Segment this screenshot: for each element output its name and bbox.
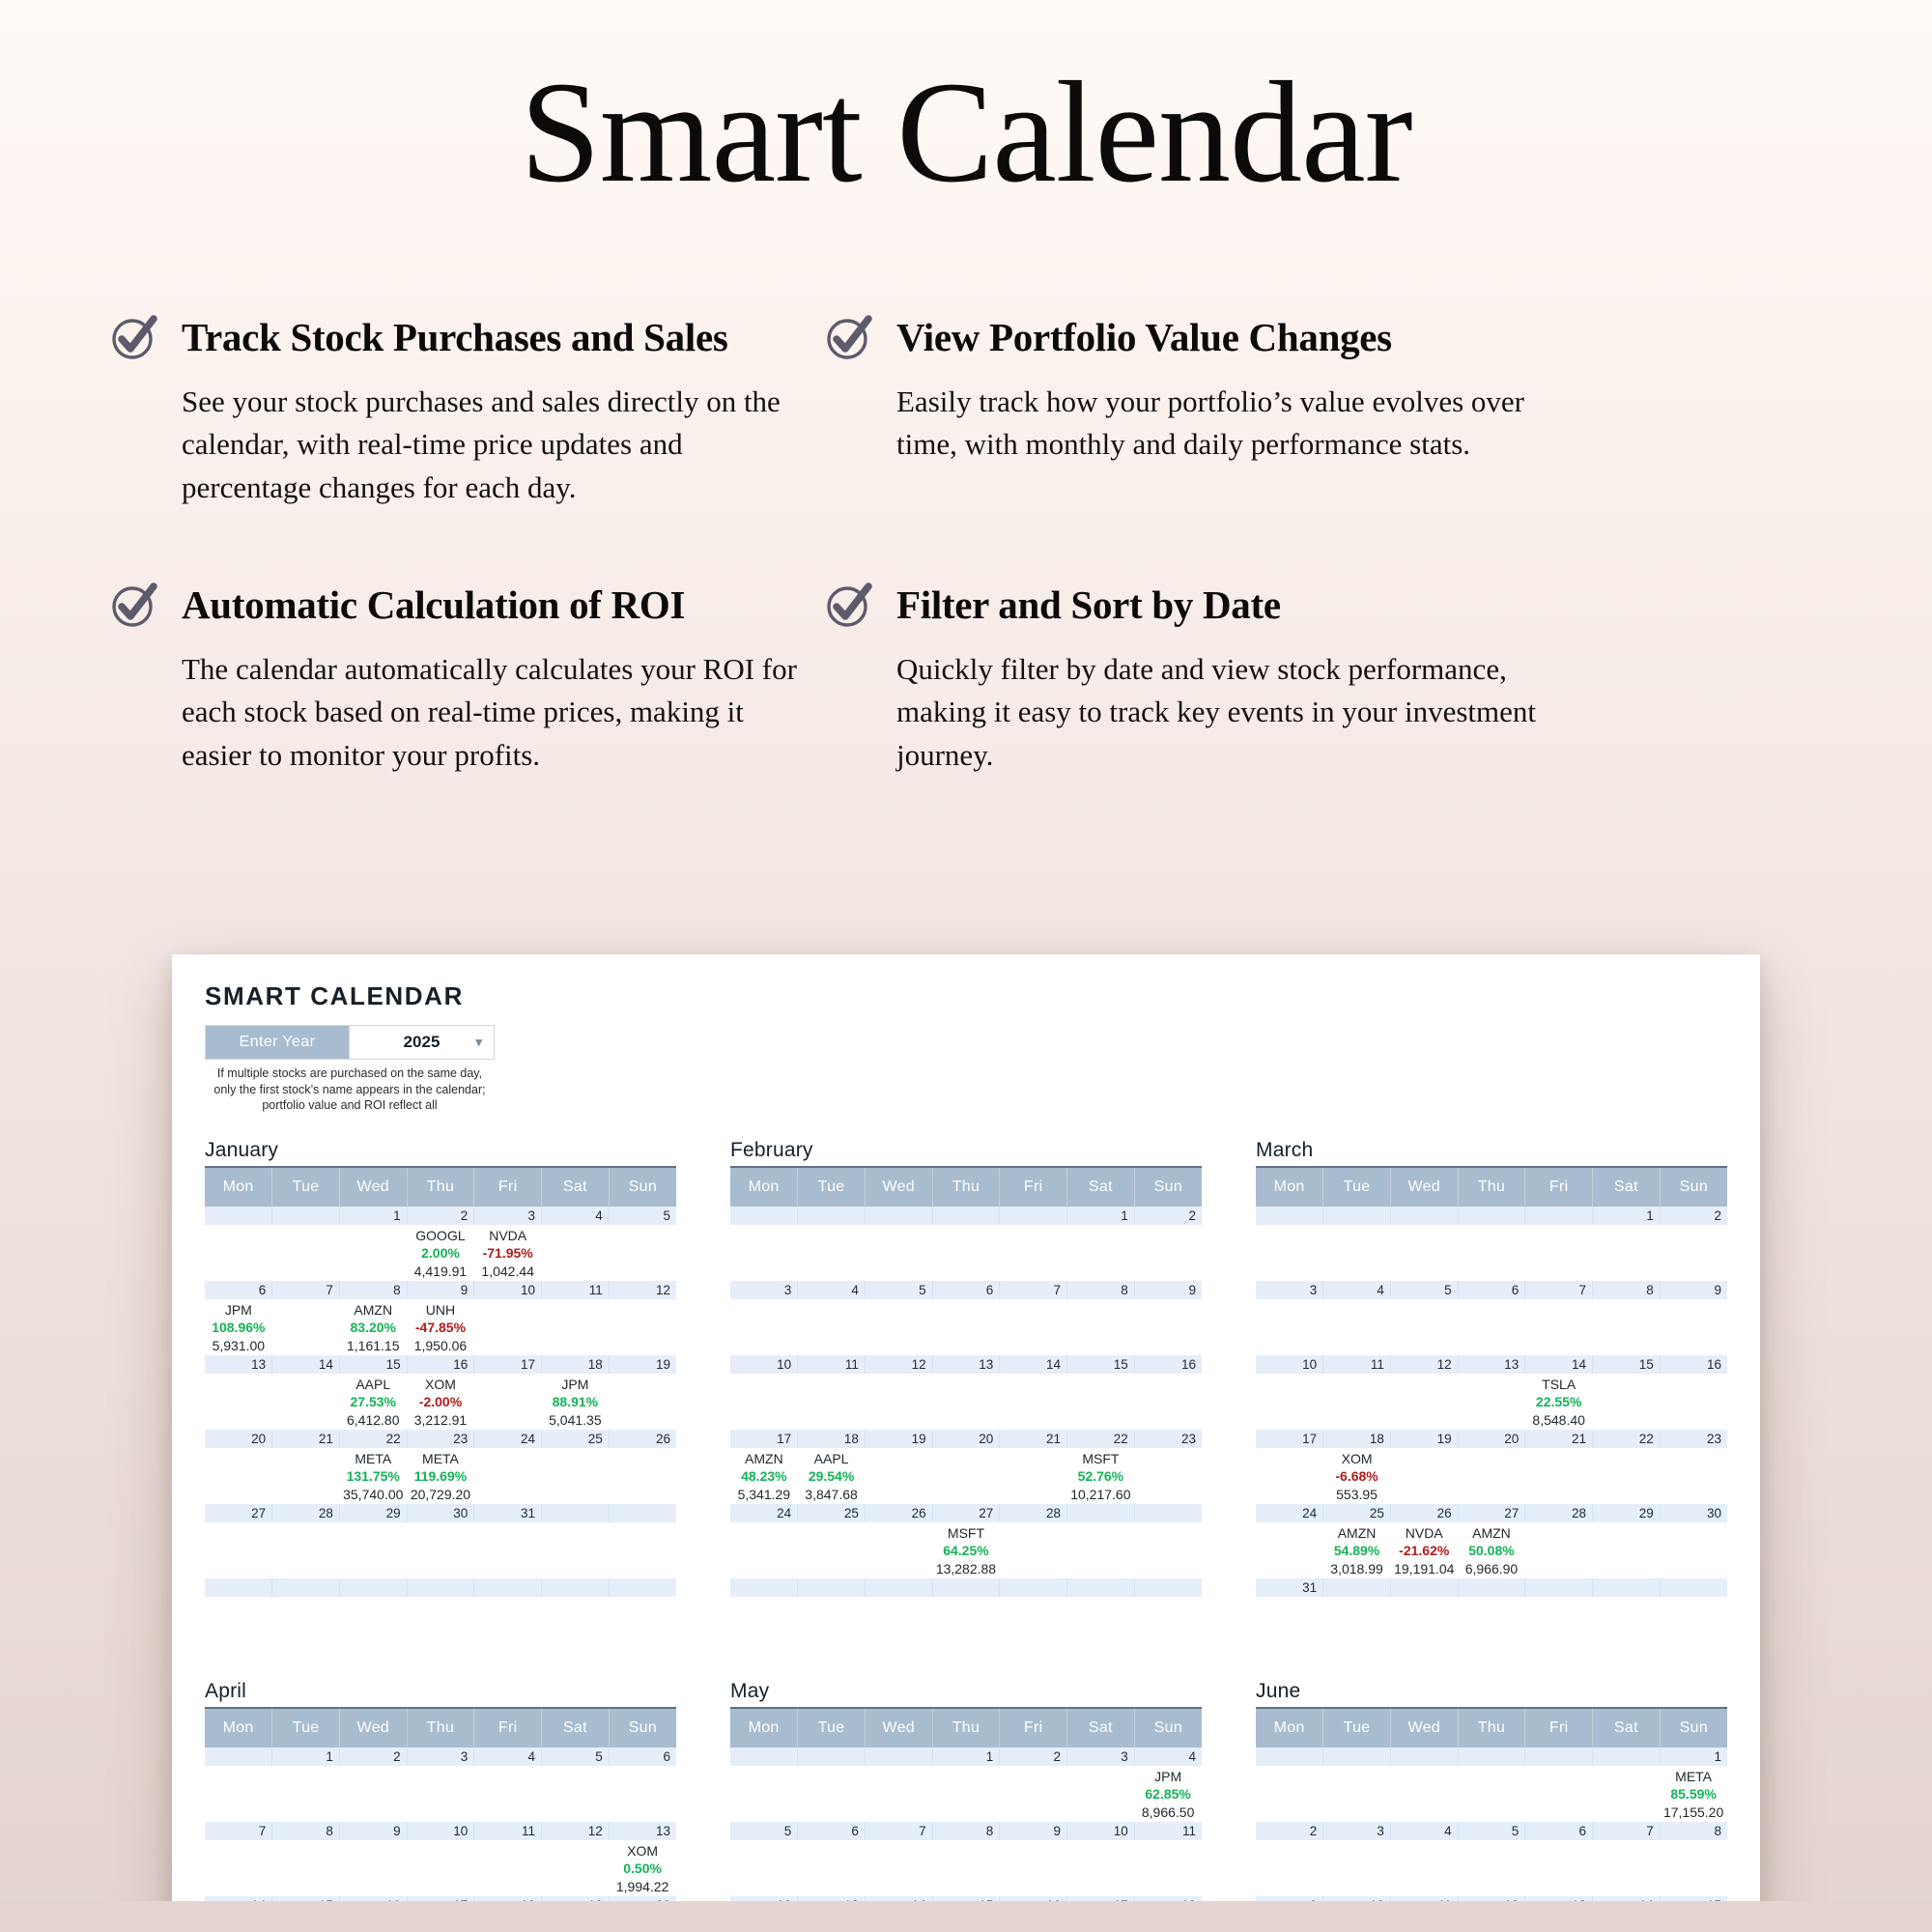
day-content-cell[interactable]: NVDA-21.62%19,191.04 xyxy=(1390,1522,1458,1578)
day-content-cell[interactable] xyxy=(1525,1840,1593,1896)
day-number-cell[interactable]: 17 xyxy=(1067,1896,1135,1915)
day-content-cell[interactable] xyxy=(474,1374,542,1430)
day-content-cell[interactable] xyxy=(1525,1597,1593,1653)
day-number-cell[interactable]: 14 xyxy=(1525,1355,1593,1374)
day-number-cell[interactable]: 9 xyxy=(1134,1281,1202,1299)
day-content-cell[interactable] xyxy=(1067,1840,1135,1896)
day-content-cell[interactable]: META131.75%35,740.00 xyxy=(339,1448,407,1504)
day-content-cell[interactable] xyxy=(1458,1840,1525,1896)
day-number-cell[interactable]: 7 xyxy=(272,1281,340,1299)
day-content-cell[interactable] xyxy=(542,1522,610,1578)
day-number-cell[interactable]: 19 xyxy=(865,1430,932,1448)
day-content-cell[interactable] xyxy=(798,1766,866,1822)
day-content-cell[interactable] xyxy=(205,1597,272,1653)
day-number-cell[interactable] xyxy=(609,1578,676,1597)
day-number-cell[interactable]: 4 xyxy=(474,1747,542,1766)
day-content-cell[interactable] xyxy=(407,1597,474,1653)
day-number-cell[interactable]: 17 xyxy=(407,1896,474,1915)
day-number-cell[interactable]: 30 xyxy=(1660,1504,1727,1522)
day-number-cell[interactable]: 14 xyxy=(205,1896,272,1915)
year-selector[interactable]: Enter Year 2025 ▾ If multiple stocks are… xyxy=(205,1025,495,1114)
day-content-cell[interactable] xyxy=(1390,1766,1458,1822)
day-content-cell[interactable] xyxy=(1256,1374,1323,1430)
day-number-cell[interactable]: 10 xyxy=(730,1355,798,1374)
day-number-cell[interactable] xyxy=(798,1747,866,1766)
day-content-cell[interactable]: NVDA-71.95%1,042.44 xyxy=(474,1225,542,1281)
day-number-cell[interactable]: 10 xyxy=(407,1822,474,1840)
day-content-cell[interactable] xyxy=(1660,1915,1727,1932)
day-number-cell[interactable]: 14 xyxy=(272,1355,340,1374)
day-content-cell[interactable] xyxy=(932,1225,1000,1281)
day-number-cell[interactable]: 13 xyxy=(205,1355,272,1374)
day-number-cell[interactable]: 10 xyxy=(1256,1355,1323,1374)
day-number-cell[interactable]: 29 xyxy=(1593,1504,1661,1522)
day-number-cell[interactable]: 11 xyxy=(1323,1355,1391,1374)
day-content-cell[interactable] xyxy=(1134,1225,1202,1281)
day-number-cell[interactable]: 18 xyxy=(474,1896,542,1915)
day-number-cell[interactable]: 13 xyxy=(609,1822,676,1840)
day-number-cell[interactable]: 16 xyxy=(1134,1355,1202,1374)
day-content-cell[interactable]: XOM1.83%886.32 xyxy=(1390,1915,1458,1932)
day-number-cell[interactable]: 20 xyxy=(1458,1430,1525,1448)
day-number-cell[interactable]: 19 xyxy=(542,1896,610,1915)
day-content-cell[interactable] xyxy=(1660,1374,1727,1430)
day-content-cell[interactable]: JPM108.96%5,931.00 xyxy=(205,1299,272,1355)
day-content-cell[interactable] xyxy=(542,1448,610,1504)
day-content-cell[interactable] xyxy=(798,1522,866,1578)
day-number-cell[interactable]: 16 xyxy=(1660,1355,1727,1374)
day-number-cell[interactable]: 2 xyxy=(1134,1207,1202,1225)
day-number-cell[interactable] xyxy=(1000,1207,1067,1225)
day-content-cell[interactable]: MSFT56.63%6,130.56 xyxy=(474,1915,542,1932)
day-number-cell[interactable]: 11 xyxy=(798,1355,866,1374)
day-number-cell[interactable]: 21 xyxy=(272,1430,340,1448)
day-number-cell[interactable]: 12 xyxy=(1458,1896,1525,1915)
day-number-cell[interactable] xyxy=(1458,1747,1525,1766)
day-number-cell[interactable]: 27 xyxy=(932,1504,1000,1522)
day-content-cell[interactable] xyxy=(272,1299,340,1355)
day-number-cell[interactable]: 5 xyxy=(542,1747,610,1766)
day-number-cell[interactable]: 15 xyxy=(1067,1355,1135,1374)
day-number-cell[interactable] xyxy=(205,1578,272,1597)
day-number-cell[interactable]: 17 xyxy=(1256,1430,1323,1448)
day-content-cell[interactable] xyxy=(1000,1225,1067,1281)
day-content-cell[interactable] xyxy=(798,1374,866,1430)
day-content-cell[interactable] xyxy=(932,1915,1000,1932)
day-number-cell[interactable]: 9 xyxy=(1000,1822,1067,1840)
day-number-cell[interactable] xyxy=(1390,1207,1458,1225)
day-number-cell[interactable] xyxy=(272,1578,340,1597)
day-content-cell[interactable] xyxy=(1458,1225,1525,1281)
day-number-cell[interactable]: 7 xyxy=(1593,1822,1661,1840)
day-number-cell[interactable]: 17 xyxy=(730,1430,798,1448)
day-content-cell[interactable] xyxy=(1067,1597,1135,1653)
day-number-cell[interactable]: 28 xyxy=(272,1504,340,1522)
day-content-cell[interactable] xyxy=(730,1766,798,1822)
day-number-cell[interactable]: 3 xyxy=(730,1281,798,1299)
day-content-cell[interactable] xyxy=(730,1225,798,1281)
chevron-down-icon[interactable]: ▾ xyxy=(475,1035,482,1050)
day-content-cell[interactable] xyxy=(272,1448,340,1504)
day-number-cell[interactable] xyxy=(1390,1747,1458,1766)
day-content-cell[interactable] xyxy=(1000,1374,1067,1430)
day-number-cell[interactable]: 31 xyxy=(1256,1578,1323,1597)
day-content-cell[interactable]: AMZN48.23%5,341.29 xyxy=(730,1448,798,1504)
day-content-cell[interactable] xyxy=(407,1840,474,1896)
day-content-cell[interactable] xyxy=(1323,1374,1391,1430)
day-content-cell[interactable] xyxy=(932,1597,1000,1653)
day-content-cell[interactable] xyxy=(1256,1597,1323,1653)
day-content-cell[interactable] xyxy=(1000,1840,1067,1896)
day-number-cell[interactable]: 2 xyxy=(1660,1207,1727,1225)
day-content-cell[interactable] xyxy=(1593,1522,1661,1578)
day-content-cell[interactable] xyxy=(474,1299,542,1355)
day-content-cell[interactable] xyxy=(205,1448,272,1504)
day-number-cell[interactable] xyxy=(542,1504,610,1522)
day-content-cell[interactable] xyxy=(1458,1299,1525,1355)
day-content-cell[interactable] xyxy=(609,1597,676,1653)
day-number-cell[interactable]: 1 xyxy=(1067,1207,1135,1225)
day-number-cell[interactable] xyxy=(1134,1578,1202,1597)
day-content-cell[interactable] xyxy=(272,1840,340,1896)
day-number-cell[interactable]: 8 xyxy=(1593,1281,1661,1299)
day-content-cell[interactable] xyxy=(1593,1766,1661,1822)
day-number-cell[interactable]: 31 xyxy=(474,1504,542,1522)
day-number-cell[interactable]: 5 xyxy=(865,1281,932,1299)
day-number-cell[interactable] xyxy=(1525,1578,1593,1597)
day-content-cell[interactable]: AMZN50.08%6,966.90 xyxy=(1458,1522,1525,1578)
day-content-cell[interactable] xyxy=(730,1299,798,1355)
day-content-cell[interactable] xyxy=(542,1915,610,1932)
day-number-cell[interactable]: 11 xyxy=(1390,1896,1458,1915)
day-number-cell[interactable]: 22 xyxy=(1593,1430,1661,1448)
day-number-cell[interactable]: 12 xyxy=(609,1281,676,1299)
day-number-cell[interactable]: 6 xyxy=(932,1281,1000,1299)
day-content-cell[interactable] xyxy=(730,1915,798,1932)
day-number-cell[interactable]: 25 xyxy=(542,1430,610,1448)
day-number-cell[interactable]: 2 xyxy=(339,1747,407,1766)
year-input[interactable]: 2025 ▾ xyxy=(349,1026,494,1059)
day-content-cell[interactable] xyxy=(474,1597,542,1653)
day-number-cell[interactable]: 5 xyxy=(1390,1281,1458,1299)
day-number-cell[interactable]: 6 xyxy=(1525,1822,1593,1840)
day-content-cell[interactable] xyxy=(730,1522,798,1578)
day-content-cell[interactable]: XOM0.50%1,994.22 xyxy=(609,1840,676,1896)
day-content-cell[interactable] xyxy=(865,1374,932,1430)
day-number-cell[interactable] xyxy=(932,1207,1000,1225)
day-content-cell[interactable] xyxy=(1390,1448,1458,1504)
day-content-cell[interactable] xyxy=(609,1522,676,1578)
day-content-cell[interactable] xyxy=(1660,1597,1727,1653)
day-content-cell[interactable]: META119.69%20,729.20 xyxy=(407,1448,474,1504)
day-number-cell[interactable]: 6 xyxy=(1458,1281,1525,1299)
day-content-cell[interactable] xyxy=(272,1225,340,1281)
day-number-cell[interactable]: 7 xyxy=(1000,1281,1067,1299)
day-number-cell[interactable]: 24 xyxy=(1256,1504,1323,1522)
day-number-cell[interactable]: 1 xyxy=(339,1207,407,1225)
day-content-cell[interactable]: AAPL29.54%3,847.68 xyxy=(798,1448,866,1504)
day-content-cell[interactable] xyxy=(1660,1299,1727,1355)
day-number-cell[interactable] xyxy=(1323,1578,1391,1597)
day-content-cell[interactable]: AMZN83.20%1,161.15 xyxy=(339,1299,407,1355)
day-number-cell[interactable]: 17 xyxy=(474,1355,542,1374)
day-content-cell[interactable] xyxy=(1134,1299,1202,1355)
day-content-cell[interactable] xyxy=(542,1840,610,1896)
day-number-cell[interactable]: 1 xyxy=(1593,1207,1661,1225)
day-content-cell[interactable] xyxy=(932,1374,1000,1430)
day-number-cell[interactable] xyxy=(339,1578,407,1597)
day-number-cell[interactable] xyxy=(1593,1747,1661,1766)
day-content-cell[interactable] xyxy=(1067,1374,1135,1430)
day-content-cell[interactable] xyxy=(205,1766,272,1822)
day-number-cell[interactable] xyxy=(272,1207,340,1225)
day-number-cell[interactable]: 9 xyxy=(1660,1281,1727,1299)
day-content-cell[interactable]: UNH-46.21%6,964.50 xyxy=(272,1915,340,1932)
day-number-cell[interactable]: 18 xyxy=(798,1430,866,1448)
day-number-cell[interactable] xyxy=(474,1578,542,1597)
day-content-cell[interactable] xyxy=(1256,1522,1323,1578)
day-content-cell[interactable] xyxy=(865,1299,932,1355)
day-content-cell[interactable] xyxy=(474,1522,542,1578)
day-content-cell[interactable] xyxy=(272,1374,340,1430)
day-content-cell[interactable]: META85.59%17,155.20 xyxy=(1660,1766,1727,1822)
day-number-cell[interactable]: 10 xyxy=(474,1281,542,1299)
day-number-cell[interactable] xyxy=(1525,1747,1593,1766)
day-content-cell[interactable] xyxy=(542,1299,610,1355)
day-content-cell[interactable] xyxy=(205,1374,272,1430)
day-content-cell[interactable] xyxy=(542,1597,610,1653)
day-content-cell[interactable] xyxy=(730,1374,798,1430)
day-number-cell[interactable]: 30 xyxy=(407,1504,474,1522)
year-row[interactable]: Enter Year 2025 ▾ xyxy=(205,1025,495,1060)
day-number-cell[interactable]: 23 xyxy=(1134,1430,1202,1448)
day-number-cell[interactable] xyxy=(730,1207,798,1225)
day-content-cell[interactable] xyxy=(1390,1225,1458,1281)
day-number-cell[interactable]: 23 xyxy=(1660,1430,1727,1448)
day-number-cell[interactable] xyxy=(798,1207,866,1225)
day-number-cell[interactable]: 26 xyxy=(1390,1504,1458,1522)
day-number-cell[interactable]: 4 xyxy=(1323,1281,1391,1299)
day-content-cell[interactable]: JPM88.91%5,041.35 xyxy=(542,1374,610,1430)
day-content-cell[interactable] xyxy=(474,1840,542,1896)
day-number-cell[interactable]: 20 xyxy=(609,1896,676,1915)
day-number-cell[interactable]: 2 xyxy=(407,1207,474,1225)
day-content-cell[interactable] xyxy=(1134,1915,1202,1932)
day-number-cell[interactable]: 18 xyxy=(1134,1896,1202,1915)
day-content-cell[interactable] xyxy=(865,1522,932,1578)
day-number-cell[interactable] xyxy=(730,1578,798,1597)
day-content-cell[interactable] xyxy=(1525,1522,1593,1578)
day-number-cell[interactable]: 1 xyxy=(1660,1747,1727,1766)
day-content-cell[interactable] xyxy=(1593,1915,1661,1932)
day-content-cell[interactable] xyxy=(609,1448,676,1504)
day-content-cell[interactable] xyxy=(609,1299,676,1355)
day-number-cell[interactable]: 8 xyxy=(932,1822,1000,1840)
day-number-cell[interactable]: 3 xyxy=(1323,1822,1391,1840)
day-content-cell[interactable] xyxy=(1134,1840,1202,1896)
day-content-cell[interactable] xyxy=(932,1448,1000,1504)
day-content-cell[interactable] xyxy=(932,1299,1000,1355)
day-number-cell[interactable] xyxy=(205,1747,272,1766)
day-number-cell[interactable]: 25 xyxy=(798,1504,866,1522)
day-content-cell[interactable]: XOM-2.00%3,212.91 xyxy=(407,1374,474,1430)
day-content-cell[interactable] xyxy=(1323,1915,1391,1932)
day-number-cell[interactable]: 10 xyxy=(1323,1896,1391,1915)
day-content-cell[interactable] xyxy=(205,1915,272,1932)
day-content-cell[interactable] xyxy=(1458,1448,1525,1504)
day-number-cell[interactable] xyxy=(1323,1747,1391,1766)
day-content-cell[interactable] xyxy=(865,1915,932,1932)
day-number-cell[interactable]: 3 xyxy=(1256,1281,1323,1299)
day-number-cell[interactable]: 28 xyxy=(1000,1504,1067,1522)
day-number-cell[interactable]: 19 xyxy=(609,1355,676,1374)
day-number-cell[interactable]: 8 xyxy=(1067,1281,1135,1299)
day-number-cell[interactable]: 13 xyxy=(932,1355,1000,1374)
day-number-cell[interactable]: 4 xyxy=(542,1207,610,1225)
day-content-cell[interactable] xyxy=(1256,1840,1323,1896)
day-content-cell[interactable] xyxy=(1134,1522,1202,1578)
day-number-cell[interactable]: 15 xyxy=(272,1896,340,1915)
day-content-cell[interactable] xyxy=(1000,1597,1067,1653)
day-number-cell[interactable]: 14 xyxy=(865,1896,932,1915)
day-content-cell[interactable] xyxy=(798,1840,866,1896)
day-number-cell[interactable]: 21 xyxy=(1525,1430,1593,1448)
day-content-cell[interactable] xyxy=(798,1225,866,1281)
day-content-cell[interactable] xyxy=(1000,1299,1067,1355)
day-number-cell[interactable]: 10 xyxy=(1067,1822,1135,1840)
day-content-cell[interactable] xyxy=(730,1840,798,1896)
day-number-cell[interactable]: 13 xyxy=(1458,1355,1525,1374)
day-number-cell[interactable]: 18 xyxy=(1323,1430,1391,1448)
day-number-cell[interactable]: 6 xyxy=(798,1822,866,1840)
day-content-cell[interactable] xyxy=(1660,1522,1727,1578)
day-content-cell[interactable] xyxy=(865,1766,932,1822)
day-number-cell[interactable]: 12 xyxy=(1390,1355,1458,1374)
day-number-cell[interactable] xyxy=(1256,1207,1323,1225)
day-content-cell[interactable] xyxy=(1593,1299,1661,1355)
day-number-cell[interactable] xyxy=(1458,1578,1525,1597)
day-number-cell[interactable] xyxy=(1067,1504,1135,1522)
day-number-cell[interactable] xyxy=(1067,1578,1135,1597)
day-number-cell[interactable]: 11 xyxy=(542,1281,610,1299)
day-number-cell[interactable]: 6 xyxy=(609,1747,676,1766)
day-content-cell[interactable] xyxy=(798,1299,866,1355)
day-content-cell[interactable] xyxy=(798,1915,866,1932)
day-content-cell[interactable] xyxy=(1323,1597,1391,1653)
day-content-cell[interactable]: TSLA22.55%8,548.40 xyxy=(1525,1374,1593,1430)
day-number-cell[interactable]: 18 xyxy=(542,1355,610,1374)
day-content-cell[interactable] xyxy=(1593,1225,1661,1281)
day-content-cell[interactable] xyxy=(1525,1448,1593,1504)
day-content-cell[interactable]: AMZN62.76%464.46 xyxy=(407,1915,474,1932)
day-number-cell[interactable]: 28 xyxy=(1525,1504,1593,1522)
day-number-cell[interactable]: 29 xyxy=(339,1504,407,1522)
day-number-cell[interactable]: 27 xyxy=(205,1504,272,1522)
day-number-cell[interactable] xyxy=(932,1578,1000,1597)
day-number-cell[interactable] xyxy=(730,1747,798,1766)
day-number-cell[interactable]: 6 xyxy=(205,1281,272,1299)
day-number-cell[interactable]: 25 xyxy=(1323,1504,1391,1522)
day-content-cell[interactable]: UNH-47.85%1,950.06 xyxy=(407,1299,474,1355)
day-content-cell[interactable] xyxy=(865,1448,932,1504)
day-number-cell[interactable] xyxy=(407,1578,474,1597)
day-number-cell[interactable]: 8 xyxy=(339,1281,407,1299)
day-number-cell[interactable]: 4 xyxy=(1390,1822,1458,1840)
day-content-cell[interactable] xyxy=(609,1225,676,1281)
day-content-cell[interactable] xyxy=(1593,1374,1661,1430)
day-number-cell[interactable]: 13 xyxy=(1525,1896,1593,1915)
day-content-cell[interactable] xyxy=(407,1766,474,1822)
day-content-cell[interactable] xyxy=(339,1225,407,1281)
day-number-cell[interactable] xyxy=(865,1747,932,1766)
day-content-cell[interactable] xyxy=(1067,1299,1135,1355)
day-content-cell[interactable] xyxy=(474,1448,542,1504)
day-number-cell[interactable]: 3 xyxy=(1067,1747,1135,1766)
day-content-cell[interactable] xyxy=(339,1522,407,1578)
day-number-cell[interactable]: 24 xyxy=(730,1504,798,1522)
day-number-cell[interactable]: 9 xyxy=(339,1822,407,1840)
day-content-cell[interactable] xyxy=(1323,1766,1391,1822)
day-number-cell[interactable] xyxy=(1660,1578,1727,1597)
day-content-cell[interactable] xyxy=(339,1597,407,1653)
day-content-cell[interactable]: MSFT52.76%10,217.60 xyxy=(1067,1448,1135,1504)
day-content-cell[interactable] xyxy=(1000,1448,1067,1504)
day-content-cell[interactable] xyxy=(1134,1374,1202,1430)
day-number-cell[interactable]: 2 xyxy=(1256,1822,1323,1840)
day-content-cell[interactable] xyxy=(1067,1915,1135,1932)
day-content-cell[interactable] xyxy=(1323,1840,1391,1896)
day-content-cell[interactable] xyxy=(1660,1448,1727,1504)
day-content-cell[interactable] xyxy=(1390,1840,1458,1896)
day-number-cell[interactable]: 1 xyxy=(932,1747,1000,1766)
day-content-cell[interactable] xyxy=(609,1915,676,1932)
day-number-cell[interactable]: 13 xyxy=(798,1896,866,1915)
day-content-cell[interactable] xyxy=(272,1597,340,1653)
day-number-cell[interactable]: 3 xyxy=(407,1747,474,1766)
day-number-cell[interactable]: 14 xyxy=(1000,1355,1067,1374)
day-number-cell[interactable]: 4 xyxy=(1134,1747,1202,1766)
day-number-cell[interactable] xyxy=(609,1504,676,1522)
day-number-cell[interactable]: 7 xyxy=(205,1822,272,1840)
day-content-cell[interactable] xyxy=(1256,1915,1323,1932)
day-content-cell[interactable] xyxy=(272,1766,340,1822)
day-content-cell[interactable] xyxy=(1593,1448,1661,1504)
day-number-cell[interactable]: 14 xyxy=(1593,1896,1661,1915)
day-content-cell[interactable] xyxy=(205,1840,272,1896)
day-number-cell[interactable] xyxy=(542,1578,610,1597)
day-number-cell[interactable]: 19 xyxy=(1390,1430,1458,1448)
day-number-cell[interactable]: 15 xyxy=(339,1355,407,1374)
day-content-cell[interactable] xyxy=(205,1522,272,1578)
day-number-cell[interactable]: 20 xyxy=(932,1430,1000,1448)
day-content-cell[interactable] xyxy=(1458,1766,1525,1822)
day-number-cell[interactable]: 9 xyxy=(407,1281,474,1299)
day-number-cell[interactable] xyxy=(1458,1207,1525,1225)
day-number-cell[interactable]: 21 xyxy=(1000,1430,1067,1448)
day-content-cell[interactable] xyxy=(1000,1766,1067,1822)
day-content-cell[interactable] xyxy=(1067,1522,1135,1578)
day-content-cell[interactable] xyxy=(1323,1299,1391,1355)
day-number-cell[interactable]: 2 xyxy=(1000,1747,1067,1766)
day-number-cell[interactable]: 7 xyxy=(1525,1281,1593,1299)
day-content-cell[interactable] xyxy=(1256,1225,1323,1281)
day-number-cell[interactable]: 11 xyxy=(474,1822,542,1840)
day-content-cell[interactable] xyxy=(1525,1766,1593,1822)
day-number-cell[interactable]: 15 xyxy=(1593,1355,1661,1374)
day-number-cell[interactable]: 22 xyxy=(339,1430,407,1448)
day-content-cell[interactable] xyxy=(339,1840,407,1896)
day-content-cell[interactable] xyxy=(865,1225,932,1281)
